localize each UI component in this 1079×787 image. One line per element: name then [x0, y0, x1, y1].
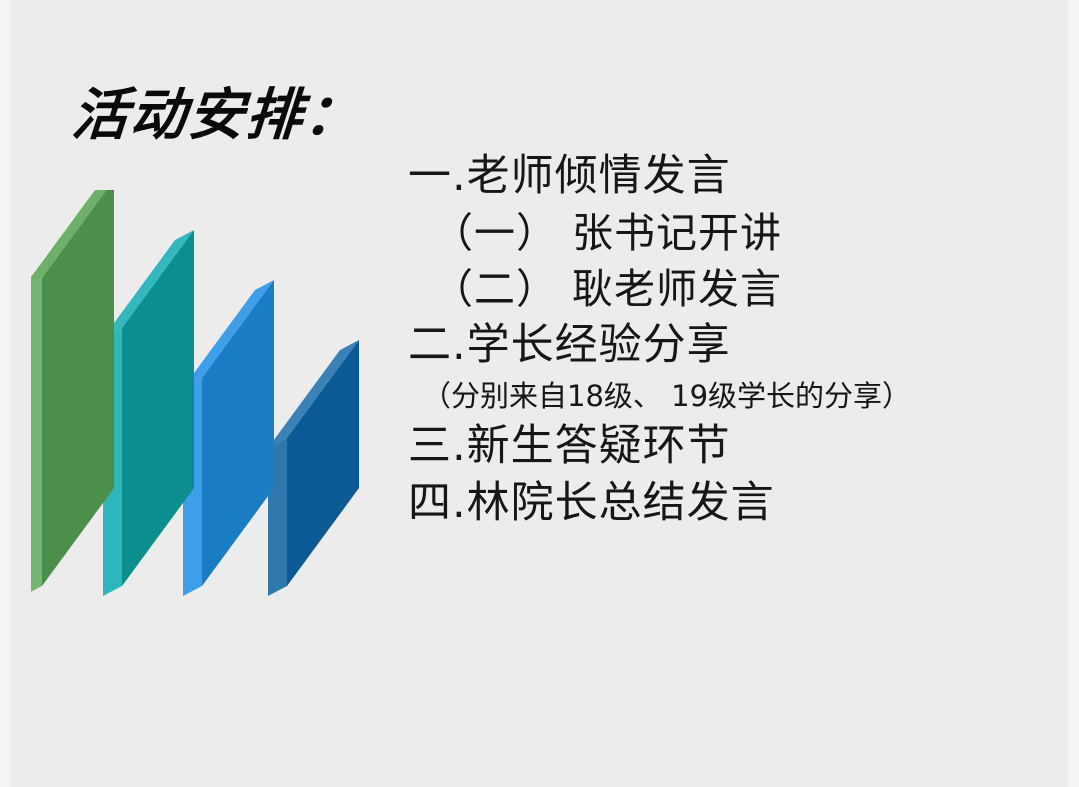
panel-teal: [103, 230, 194, 596]
agenda-item: （二） 耿老师发言: [408, 261, 1058, 317]
agenda-item: 一.老师倾情发言: [408, 148, 1058, 205]
slide-frame: 活动安排：: [0, 0, 1079, 787]
page-title: 活动安排：: [70, 86, 364, 145]
agenda-list: 一.老师倾情发言 （一） 张书记开讲 （二） 耿老师发言 二.学长经验分享 （分…: [408, 148, 1058, 532]
agenda-item-note: （分别来自18级、 19级学长的分享）: [408, 374, 1058, 418]
agenda-item: （一） 张书记开讲: [408, 205, 1058, 261]
panel-blue: [183, 280, 274, 596]
agenda-item: 三.新生答疑环节: [408, 418, 1058, 475]
agenda-item: 二.学长经验分享: [408, 317, 1058, 374]
agenda-item: 四.林院长总结发言: [408, 475, 1058, 532]
panel-green: [31, 190, 114, 596]
panel-dark-blue: [268, 340, 359, 596]
layered-slabs-illustration: [31, 190, 391, 610]
slide-canvas: 活动安排：: [11, 0, 1068, 787]
